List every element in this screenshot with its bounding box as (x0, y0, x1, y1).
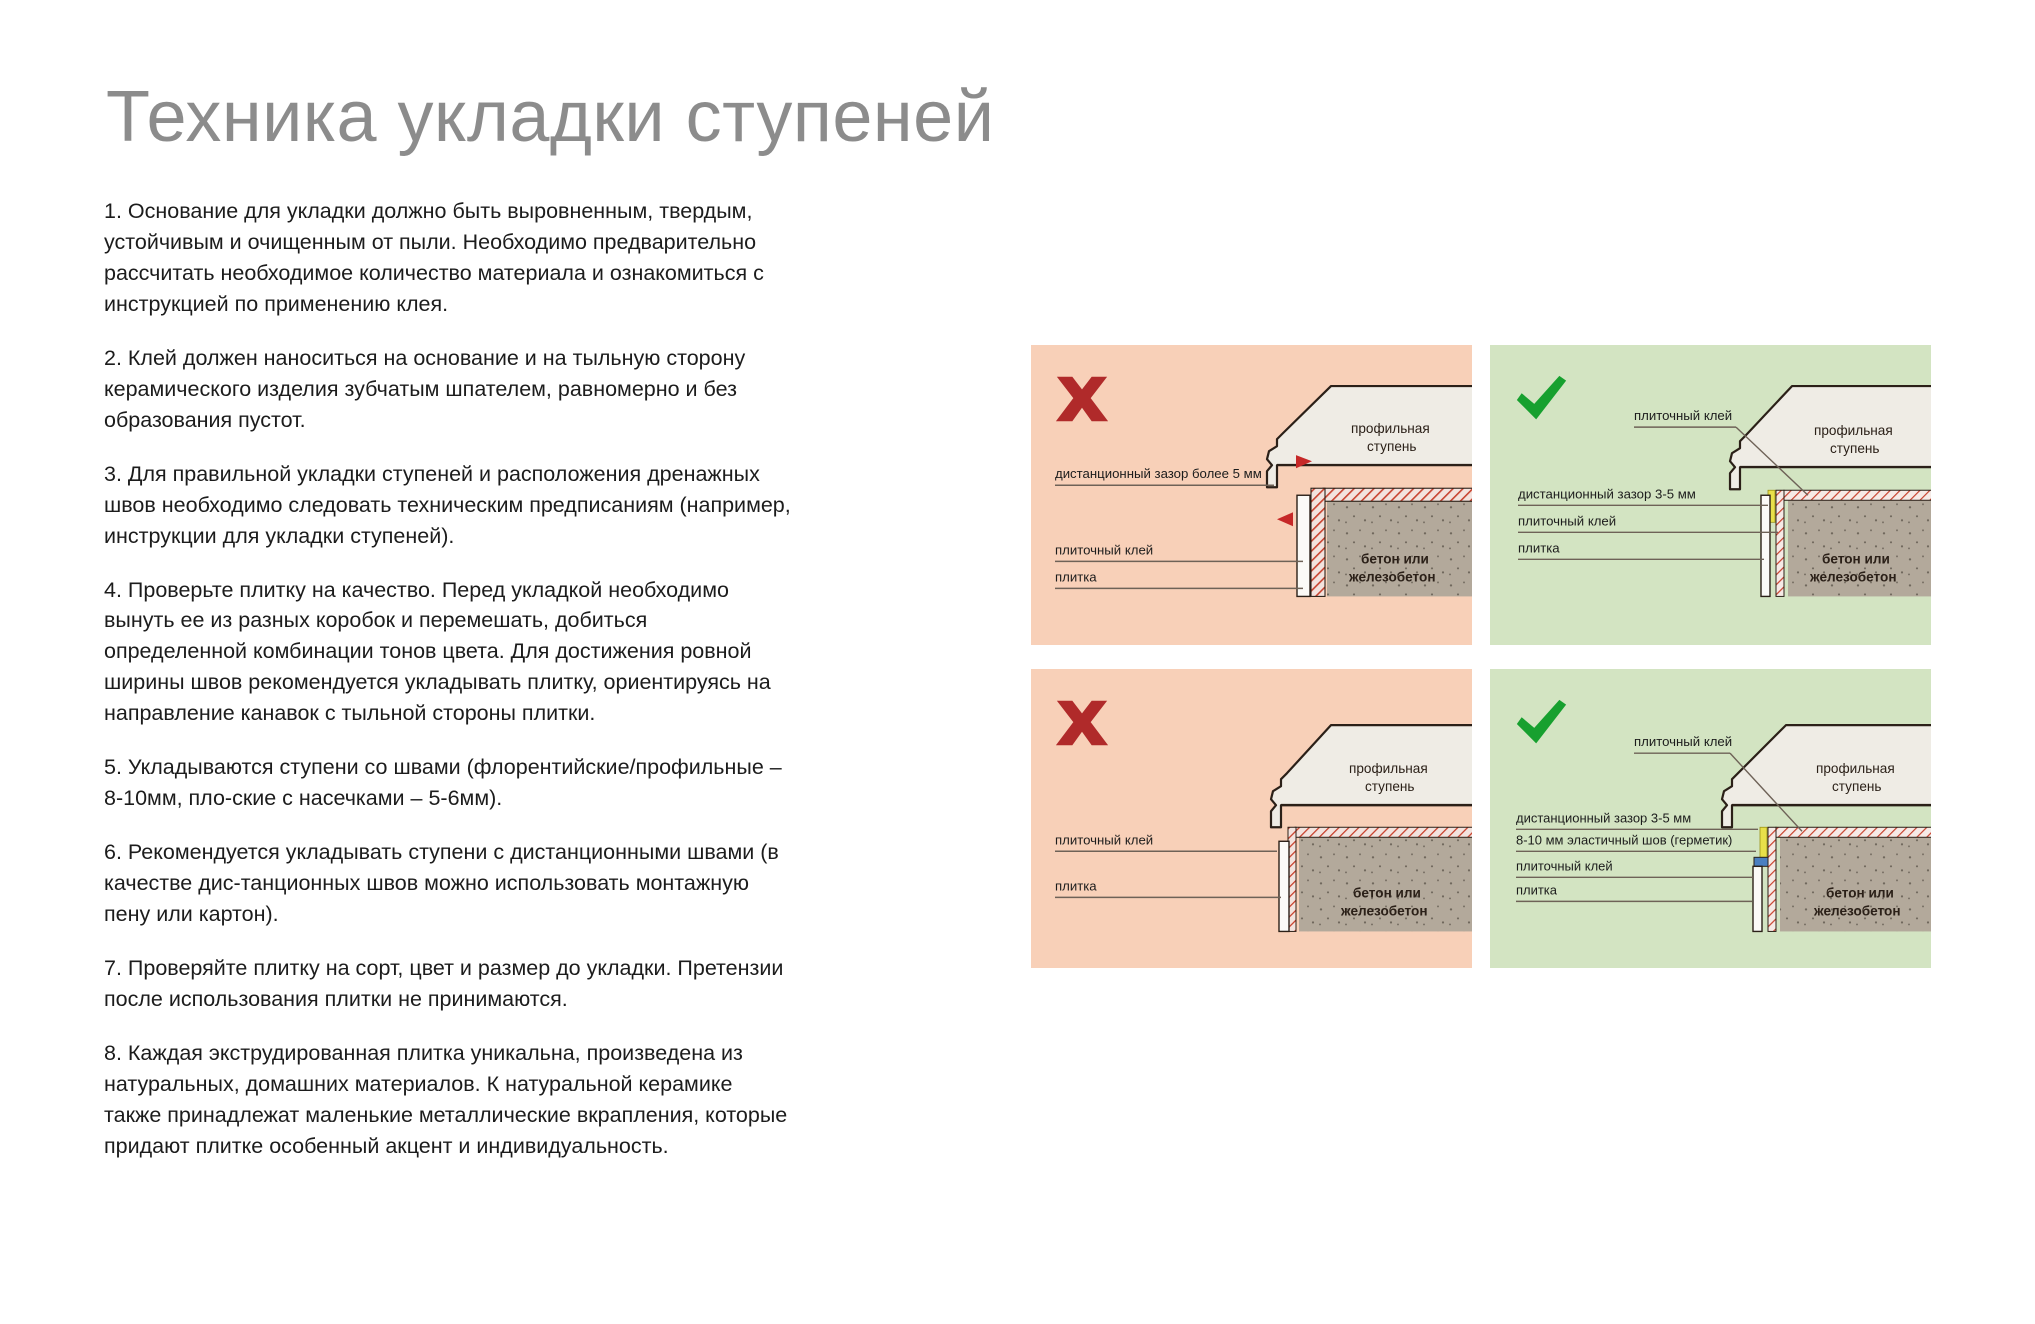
label-adhesive: плиточный клей (1055, 542, 1153, 557)
label-step: профильная (1814, 423, 1893, 438)
label-gap: дистанционный зазор 3-5 мм (1516, 810, 1691, 825)
figure-bottom-right: плиточный клей дистанционный зазор 3-5 м… (1490, 669, 1931, 969)
label-step: ступень (1367, 439, 1417, 454)
label-tile: плитка (1516, 882, 1558, 897)
diagram-panel-top-right: плиточный клей дистанционный зазор 3-5 м… (1490, 345, 1931, 645)
label-concrete: железобетон (1809, 569, 1897, 584)
label-gap: дистанционный зазор более 5 мм (1055, 466, 1262, 481)
label-step: профильная (1816, 761, 1895, 776)
label-gap: дистанционный зазор 3-5 мм (1518, 486, 1696, 501)
label-concrete: железобетон (1348, 569, 1436, 584)
label-tile: плитка (1055, 569, 1097, 584)
label-adhesive-top: плиточный клей (1634, 408, 1732, 423)
label-adhesive: плиточный клей (1518, 513, 1616, 528)
instructions-list: 1. Основание для укладки должно быть выр… (104, 196, 794, 1162)
instruction-paragraph: 5. Укладываются ступени со швами (флорен… (104, 752, 794, 814)
diagram-panel-bottom-left: плиточный клей плитка профильная ступень… (1031, 669, 1472, 969)
label-sealant: 8-10 мм эластичный шов (герметик) (1516, 832, 1732, 847)
instruction-paragraph: 2. Клей должен наноситься на основание и… (104, 343, 794, 436)
figure-top-left: дистанционный зазор более 5 мм плиточный… (1031, 345, 1472, 645)
label-step: ступень (1365, 779, 1415, 794)
label-step: ступень (1830, 441, 1880, 456)
label-tile: плитка (1055, 878, 1097, 893)
instruction-paragraph: 7. Проверяйте плитку на сорт, цвет и раз… (104, 953, 794, 1015)
instruction-paragraph: 1. Основание для укладки должно быть выр… (104, 196, 794, 320)
label-concrete: бетон или (1826, 885, 1894, 900)
label-adhesive-top: плиточный клей (1634, 734, 1732, 749)
instruction-paragraph: 6. Рекомендуется укладывать ступени с ди… (104, 837, 794, 930)
label-adhesive: плиточный клей (1516, 858, 1613, 873)
figure-top-right: плиточный клей дистанционный зазор 3-5 м… (1490, 345, 1931, 645)
label-concrete: бетон или (1822, 551, 1890, 566)
label-concrete: железобетон (1813, 903, 1901, 918)
instruction-paragraph: 4. Проверьте плитку на качество. Перед у… (104, 575, 794, 730)
figure-bottom-left: плиточный клей плитка профильная ступень… (1031, 669, 1472, 969)
label-step: профильная (1351, 421, 1430, 436)
diagram-panel-bottom-right: плиточный клей дистанционный зазор 3-5 м… (1490, 669, 1931, 969)
label-tile: плитка (1518, 540, 1560, 555)
page-root: Техника укладки ступеней 1. Основание дл… (0, 0, 2035, 1324)
page-title: Техника укладки ступеней (106, 80, 994, 156)
label-concrete: бетон или (1353, 885, 1421, 900)
label-step: ступень (1832, 779, 1882, 794)
diagram-panel-top-left: дистанционный зазор более 5 мм плиточный… (1031, 345, 1472, 645)
instruction-paragraph: 3. Для правильной укладки ступеней и рас… (104, 459, 794, 552)
label-step: профильная (1349, 761, 1428, 776)
label-concrete: бетон или (1361, 551, 1429, 566)
label-concrete: железобетон (1340, 903, 1428, 918)
instruction-paragraph: 8. Каждая экструдированная плитка уникал… (104, 1038, 794, 1162)
label-adhesive: плиточный клей (1055, 832, 1153, 847)
diagram-grid: дистанционный зазор более 5 мм плиточный… (1031, 345, 1931, 968)
